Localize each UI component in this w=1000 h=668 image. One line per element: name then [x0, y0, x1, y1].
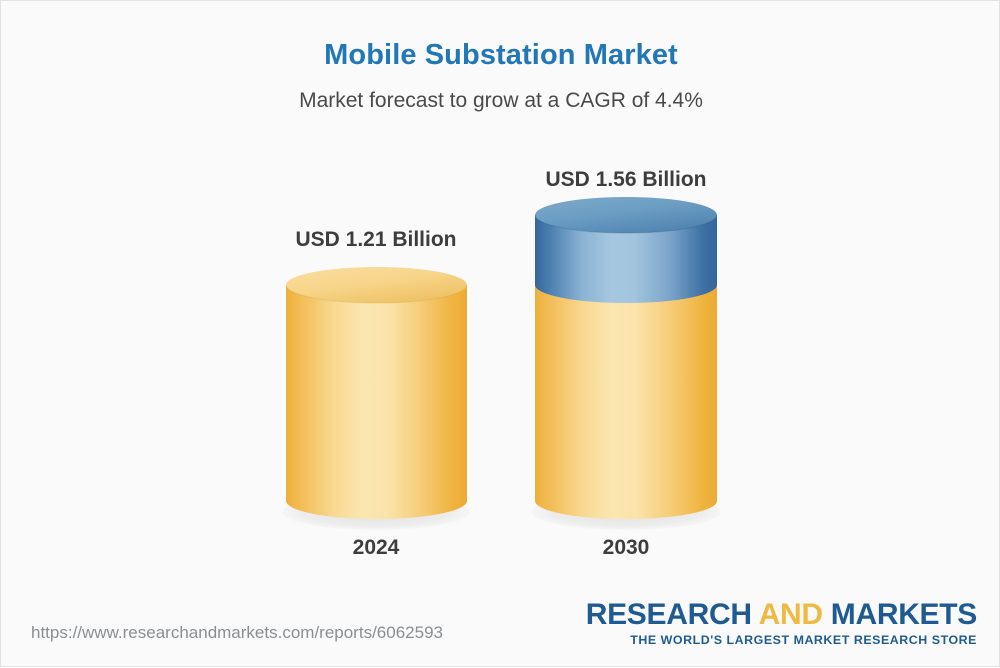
logo-tagline: THE WORLD'S LARGEST MARKET RESEARCH STOR…: [586, 633, 977, 647]
value-label-2030: USD 1.56 Billion: [525, 168, 727, 192]
bar-cylinder-2030[interactable]: [535, 197, 717, 519]
bar-group-2024: USD 1.21 Billion: [276, 151, 476, 571]
research-and-markets-logo[interactable]: RESEARCH AND MARKETS THE WORLD'S LARGEST…: [586, 599, 977, 647]
source-url[interactable]: https://www.researchandmarkets.com/repor…: [31, 623, 443, 643]
bar-group-2030: USD 1.56 Billion: [525, 151, 727, 571]
logo-wordmark: RESEARCH AND MARKETS: [586, 599, 977, 631]
bar-cylinder-2024-svg: [286, 267, 467, 519]
logo-text-markets: MARKETS: [823, 598, 977, 631]
category-label-2024: 2024: [276, 536, 476, 560]
logo-text-research: RESEARCH: [586, 598, 759, 631]
bar-cylinder-2030-svg: [535, 197, 717, 519]
logo-text-and: AND: [759, 598, 823, 631]
bar-cylinder-2024[interactable]: [286, 267, 467, 519]
category-label-2030: 2030: [525, 536, 727, 560]
plot-area: USD 1.21 Billion: [1, 1, 1000, 668]
chart-canvas: Mobile Substation Market Market forecast…: [0, 0, 1000, 667]
value-label-2024: USD 1.21 Billion: [276, 228, 476, 252]
